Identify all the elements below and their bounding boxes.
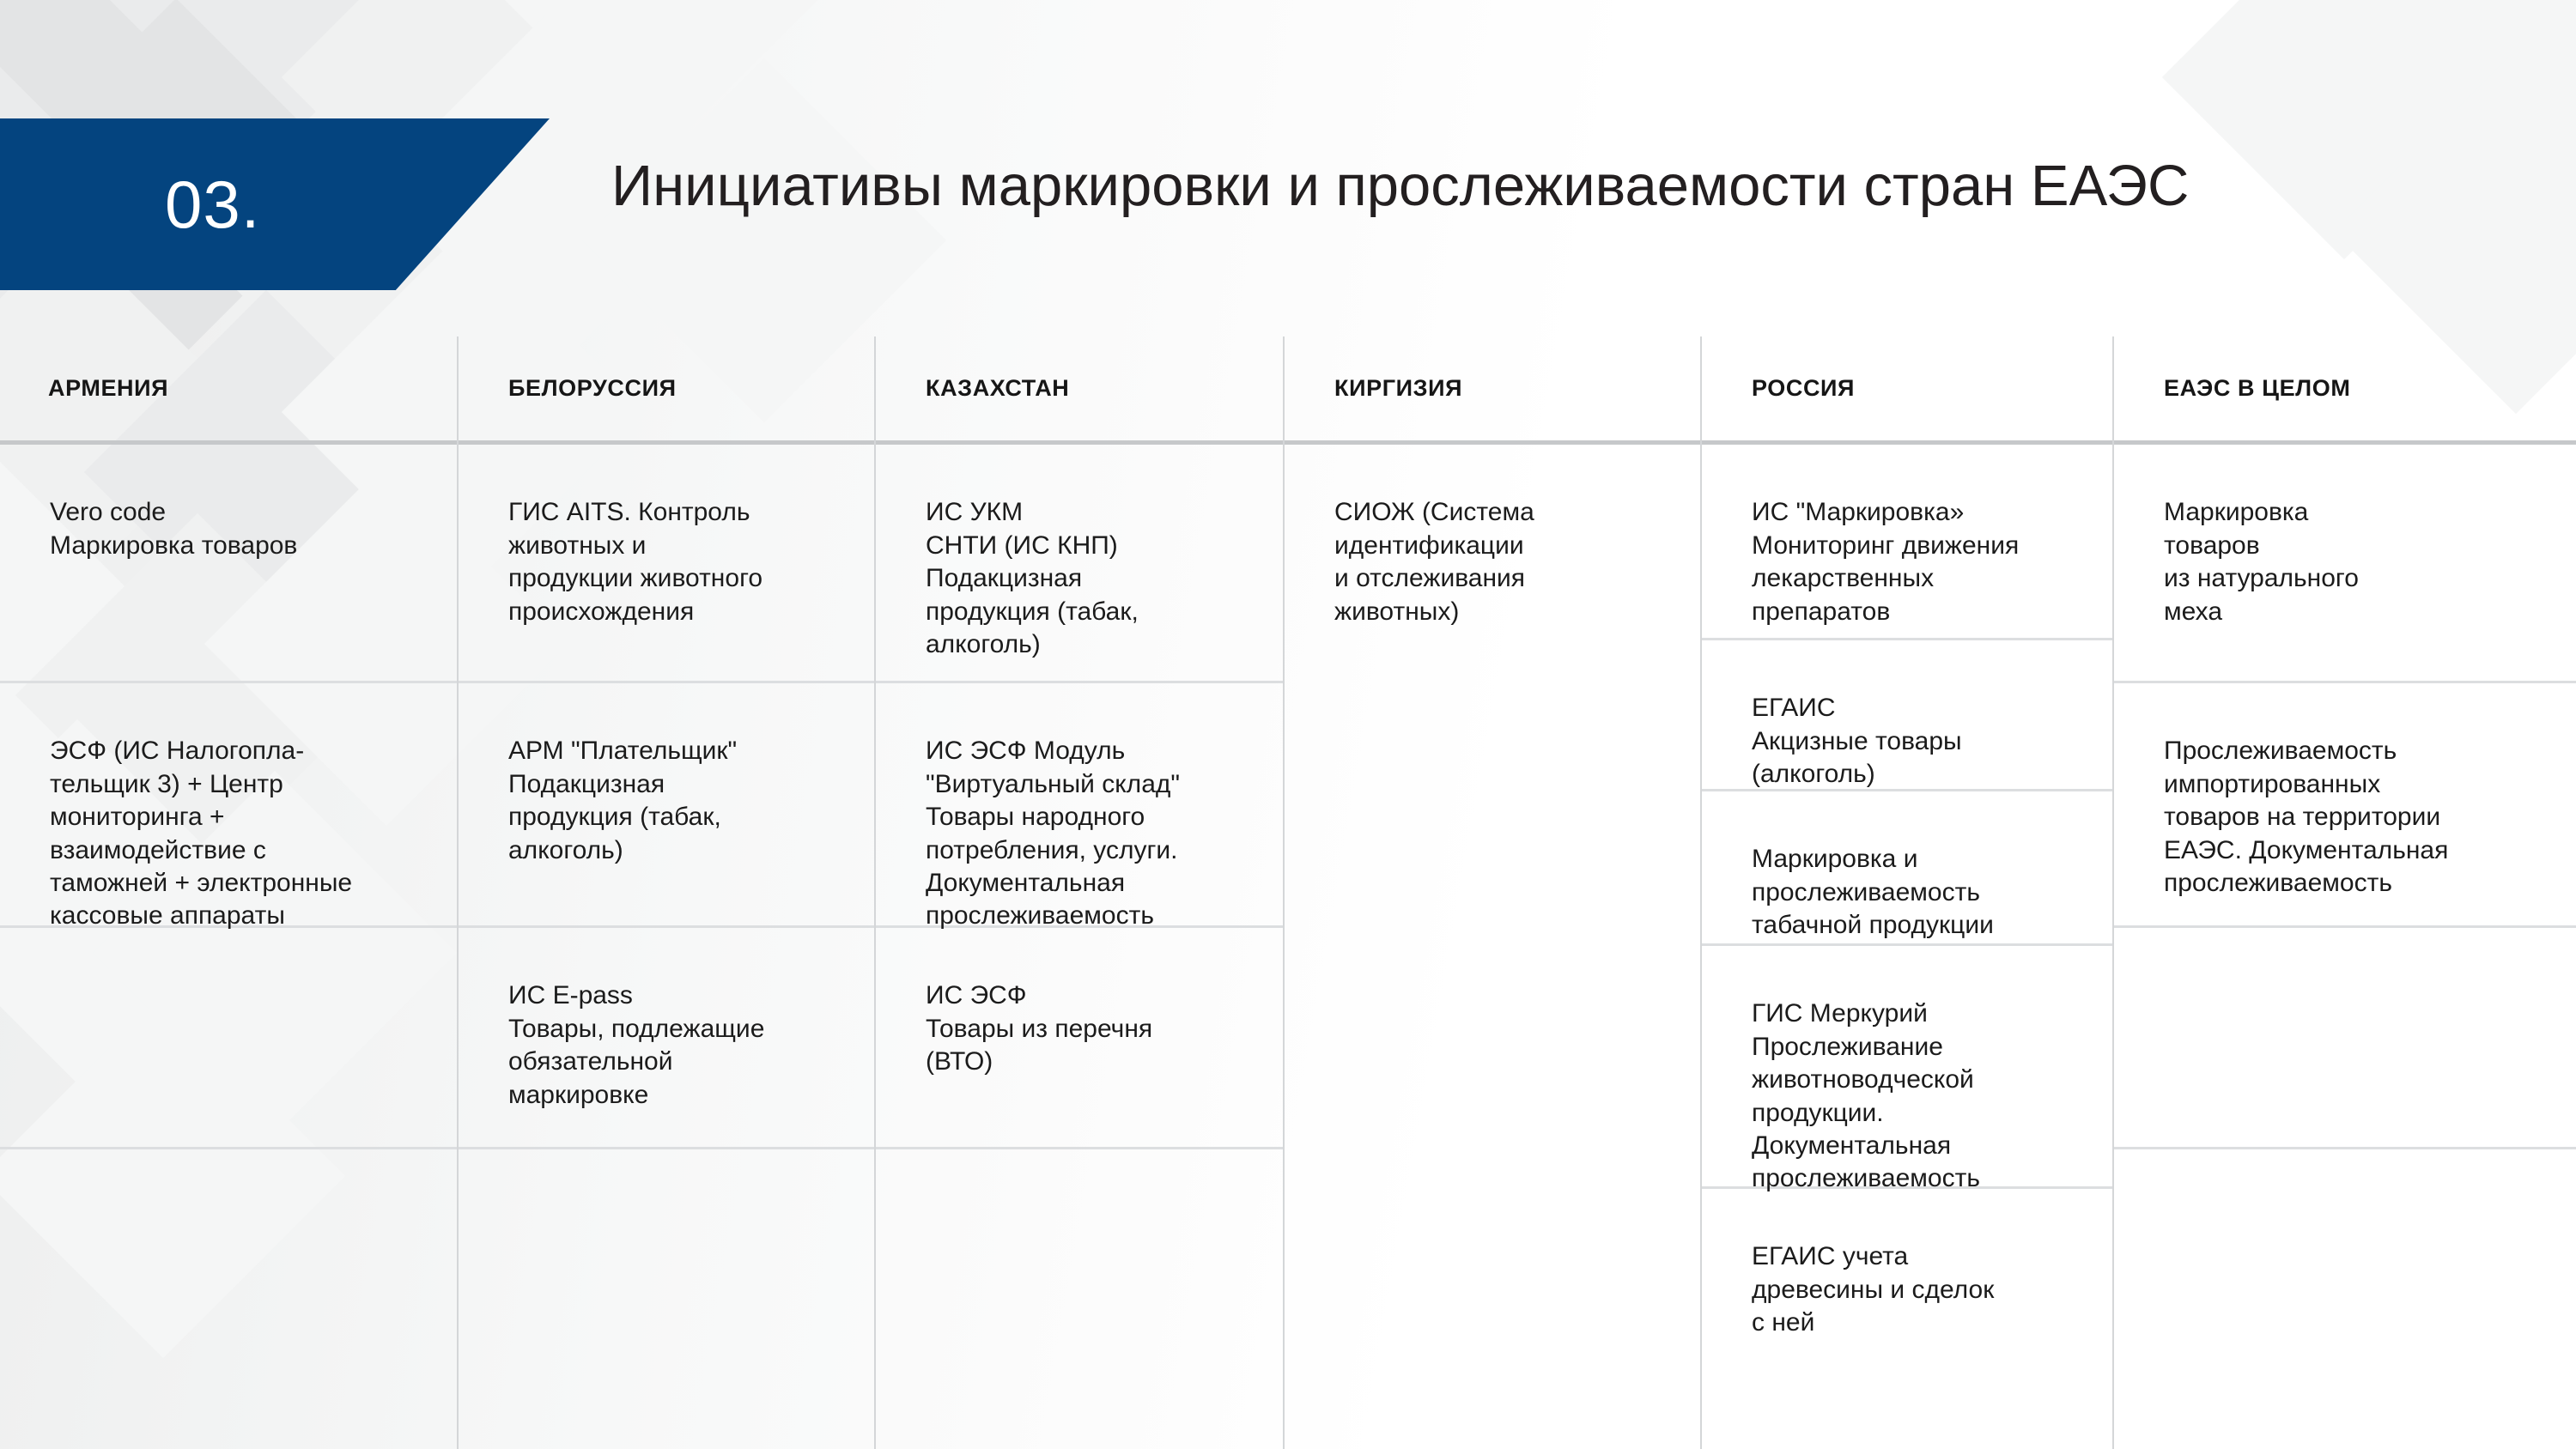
cell-text: ИС E-pass Товары, подлежащие обязательно… (508, 981, 764, 1108)
table-column-armenia: АРМЕНИЯ Vero code Маркировка товаров ЭСФ… (0, 336, 457, 1449)
page-title: Инициативы маркировки и прослеживаемости… (611, 152, 2440, 220)
table-column-kazakhstan: КАЗАХСТАН ИС УКМ СНТИ (ИС КНП) Подакцизн… (874, 336, 1283, 1449)
cell-text: СИОЖ (Система идентификации и отслеживан… (1334, 498, 1534, 625)
cell-text: Vero code Маркировка товаров (50, 496, 488, 562)
table-cell: ЭСФ (ИС Налогопла- тельщик 3) + Центр мо… (0, 683, 457, 928)
column-header-kazakhstan: КАЗАХСТАН (876, 336, 1283, 445)
section-number: 03. (165, 171, 260, 238)
table-cell: ИС УКМ СНТИ (ИС КНП) Подакцизная продукц… (876, 445, 1283, 683)
table-cell: ЕГАИС Акцизные товары (алкоголь) (1702, 640, 2112, 791)
table-column-belarus: БЕЛОРУССИЯ ГИС AITS. Контроль животных и… (457, 336, 874, 1449)
cell-text: Маркировка товаров из натурального меха (2164, 496, 2576, 628)
table-cell: ГИС Меркурий Прослеживание животноводчес… (1702, 946, 2112, 1189)
cell-text: ГИС Меркурий Прослеживание животноводчес… (1752, 999, 1980, 1192)
cell-text: АРМ "Плательщик" Подакцизная продукция (… (508, 737, 737, 864)
country-initiatives-table: АРМЕНИЯ Vero code Маркировка товаров ЭСФ… (0, 336, 2576, 1449)
table-cell (1285, 1149, 1700, 1446)
column-header-kyrgyzstan: КИРГИЗИЯ (1285, 336, 1700, 445)
column-header-label: КИРГИЗИЯ (1334, 375, 1462, 402)
table-cell (459, 1149, 874, 1446)
table-cell (2114, 928, 2576, 1149)
column-header-belarus: БЕЛОРУССИЯ (459, 336, 874, 445)
slide-root: 03. Инициативы маркировки и прослеживаем… (0, 0, 2576, 1449)
column-header-label: РОССИЯ (1752, 375, 1855, 402)
column-body-kyrgyzstan: СИОЖ (Система идентификации и отслеживан… (1285, 445, 1700, 1446)
table-cell: Маркировка товаров из натурального меха (2114, 445, 2576, 683)
table-cell (0, 928, 457, 1149)
cell-text: ИС "Маркировка» Мониторинг движения лека… (1752, 498, 2019, 625)
table-cell (2114, 1149, 2576, 1446)
table-grid: АРМЕНИЯ Vero code Маркировка товаров ЭСФ… (0, 336, 2576, 1449)
column-header-label: КАЗАХСТАН (926, 375, 1069, 402)
table-cell (876, 1149, 1283, 1446)
table-cell (1285, 928, 1700, 1149)
cell-text: Маркировка и прослеживаемость табачной п… (1752, 845, 1994, 939)
table-column-eaeu-overall: ЕАЭС В ЦЕЛОМ Маркировка товаров из натур… (2112, 336, 2576, 1449)
cell-text: ЕГАИС Акцизные товары (алкоголь) (1752, 694, 1962, 788)
column-body-kazakhstan: ИС УКМ СНТИ (ИС КНП) Подакцизная продукц… (876, 445, 1283, 1446)
column-header-label: АРМЕНИЯ (48, 375, 168, 402)
cell-text: ГИС AITS. Контроль животных и продукции … (508, 498, 762, 625)
column-header-eaeu-overall: ЕАЭС В ЦЕЛОМ (2114, 336, 2576, 445)
table-cell: ИС E-pass Товары, подлежащие обязательно… (459, 928, 874, 1149)
column-body-armenia: Vero code Маркировка товаров ЭСФ (ИС Нал… (0, 445, 457, 1446)
column-body-russia: ИС "Маркировка» Мониторинг движения лека… (1702, 445, 2112, 1446)
table-cell: ИС ЭСФ Модуль "Виртуальный склад" Товары… (876, 683, 1283, 928)
cell-text: ИС ЭСФ Товары из перечня (ВТО) (926, 981, 1152, 1076)
table-cell: ГИС AITS. Контроль животных и продукции … (459, 445, 874, 683)
table-cell: ЕГАИС учета древесины и сделок с ней (1702, 1189, 2112, 1446)
table-column-kyrgyzstan: КИРГИЗИЯ СИОЖ (Система идентификации и о… (1283, 336, 1700, 1449)
table-cell (0, 1149, 457, 1446)
table-cell: СИОЖ (Система идентификации и отслеживан… (1285, 445, 1700, 683)
table-cell: Маркировка и прослеживаемость табачной п… (1702, 791, 2112, 946)
column-body-eaeu-overall: Маркировка товаров из натурального меха … (2114, 445, 2576, 1446)
cell-text: ЕГАИС учета древесины и сделок с ней (1752, 1242, 1994, 1337)
table-cell: ИС ЭСФ Товары из перечня (ВТО) (876, 928, 1283, 1149)
table-cell: Прослеживаемость импортированных товаров… (2114, 683, 2576, 928)
column-header-label: БЕЛОРУССИЯ (508, 375, 677, 402)
cell-text: ЭСФ (ИС Налогопла- тельщик 3) + Центр мо… (50, 735, 488, 932)
cell-text: Прослеживаемость импортированных товаров… (2164, 735, 2576, 900)
table-cell: ИС "Маркировка» Мониторинг движения лека… (1702, 445, 2112, 640)
table-cell: АРМ "Плательщик" Подакцизная продукция (… (459, 683, 874, 928)
table-cell (1285, 683, 1700, 928)
column-header-russia: РОССИЯ (1702, 336, 2112, 445)
column-header-armenia: АРМЕНИЯ (0, 336, 457, 445)
column-header-label: ЕАЭС В ЦЕЛОМ (2164, 375, 2350, 402)
cell-text: ИС ЭСФ Модуль "Виртуальный склад" Товары… (926, 737, 1180, 930)
cell-text: ИС УКМ СНТИ (ИС КНП) Подакцизная продукц… (926, 498, 1139, 658)
column-body-belarus: ГИС AITS. Контроль животных и продукции … (459, 445, 874, 1446)
table-cell: Vero code Маркировка товаров (0, 445, 457, 683)
table-column-russia: РОССИЯ ИС "Маркировка» Мониторинг движен… (1700, 336, 2112, 1449)
